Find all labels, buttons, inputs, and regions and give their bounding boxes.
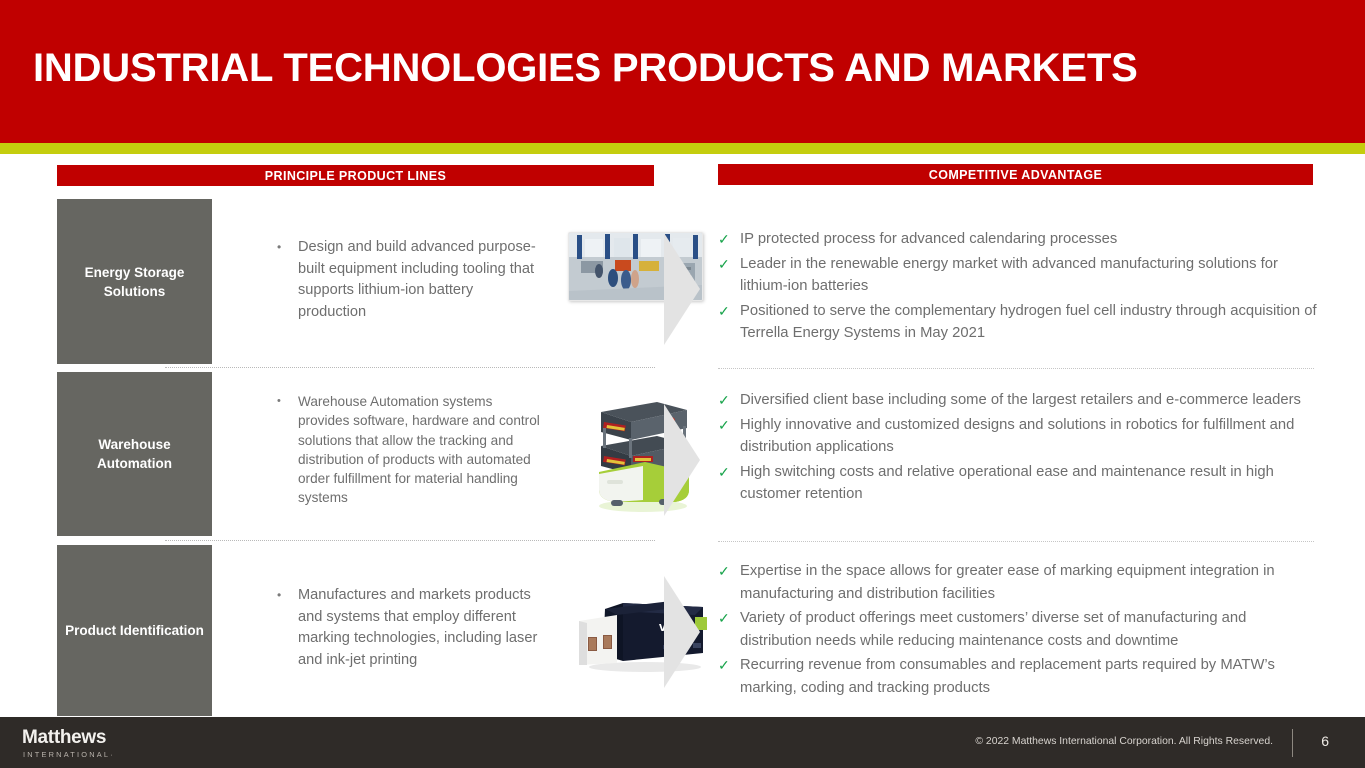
- advantage-item: ✓ Positioned to serve the complementary …: [718, 300, 1318, 345]
- product-row-product-identification: Product Identification • Manufactures an…: [57, 545, 655, 716]
- check-icon: ✓: [718, 300, 740, 345]
- advantages-group-product-identification: ✓ Expertise in the space allows for grea…: [718, 560, 1318, 701]
- advantage-item: ✓ Recurring revenue from consumables and…: [718, 654, 1318, 699]
- company-logo: Matthews: [22, 727, 106, 749]
- advantage-text: Recurring revenue from consumables and r…: [740, 654, 1318, 699]
- advantage-item: ✓ High switching costs and relative oper…: [718, 461, 1318, 506]
- row-divider-1: [165, 367, 655, 368]
- chevron-arrow-2: [662, 402, 702, 518]
- product-row-energy-storage: Energy Storage Solutions • Design and bu…: [57, 199, 655, 364]
- advantage-text: Diversified client base including some o…: [740, 389, 1301, 412]
- footer-divider: [1292, 729, 1293, 757]
- advantages-group-energy-storage: ✓ IP protected process for advanced cale…: [718, 228, 1318, 347]
- advantage-text: Leader in the renewable energy market wi…: [740, 253, 1318, 298]
- check-icon: ✓: [718, 414, 740, 459]
- copyright-text: © 2022 Matthews International Corporatio…: [975, 736, 1273, 747]
- bullet-text: Manufactures and markets products and sy…: [298, 585, 540, 671]
- page-number: 6: [1321, 733, 1329, 749]
- check-icon: ✓: [718, 228, 740, 251]
- advantage-item: ✓ Expertise in the space allows for grea…: [718, 560, 1318, 605]
- accent-bar: [0, 143, 1365, 154]
- advantage-item: ✓ Variety of product offerings meet cust…: [718, 607, 1318, 652]
- advantage-item: ✓ Diversified client base including some…: [718, 389, 1318, 412]
- slide: INDUSTRIAL TECHNOLOGIES PRODUCTS AND MAR…: [0, 0, 1365, 768]
- bullet-dot-icon: •: [272, 237, 298, 323]
- right-column-header: COMPETITIVE ADVANTAGE: [718, 164, 1313, 185]
- page-title: INDUSTRIAL TECHNOLOGIES PRODUCTS AND MAR…: [33, 44, 1138, 92]
- row-label-energy-storage: Energy Storage Solutions: [57, 199, 212, 364]
- advantage-item: ✓ Leader in the renewable energy market …: [718, 253, 1318, 298]
- advantage-text: Positioned to serve the complementary hy…: [740, 300, 1318, 345]
- advantage-item: ✓ IP protected process for advanced cale…: [718, 228, 1318, 251]
- advantage-text: Variety of product offerings meet custom…: [740, 607, 1318, 652]
- check-icon: ✓: [718, 253, 740, 298]
- advantages-divider-1: [718, 368, 1314, 369]
- bullet-item: • Design and build advanced purpose-buil…: [272, 237, 540, 323]
- bullet-text: Warehouse Automation systems provides so…: [298, 392, 540, 508]
- check-icon: ✓: [718, 389, 740, 412]
- bullet-dot-icon: •: [272, 392, 298, 508]
- advantage-text: IP protected process for advanced calend…: [740, 228, 1117, 251]
- bullet-dot-icon: •: [272, 585, 298, 671]
- advantage-item: ✓ Highly innovative and customized desig…: [718, 414, 1318, 459]
- row-divider-2: [165, 540, 655, 541]
- check-icon: ✓: [718, 560, 740, 605]
- left-column-header: PRINCIPLE PRODUCT LINES: [57, 165, 654, 186]
- row-label-warehouse-automation: Warehouse Automation: [57, 372, 212, 536]
- row-body-product-identification: • Manufactures and markets products and …: [222, 545, 712, 716]
- check-icon: ✓: [718, 461, 740, 506]
- title-band: INDUSTRIAL TECHNOLOGIES PRODUCTS AND MAR…: [0, 0, 1365, 143]
- row-label-product-identification: Product Identification: [57, 545, 212, 716]
- advantage-text: Expertise in the space allows for greate…: [740, 560, 1318, 605]
- bullet-text: Design and build advanced purpose-built …: [298, 237, 540, 323]
- advantages-divider-2: [718, 541, 1314, 542]
- chevron-arrow-1: [662, 231, 702, 347]
- advantages-group-warehouse-automation: ✓ Diversified client base including some…: [718, 389, 1318, 508]
- row-body-warehouse-automation: • Warehouse Automation systems provides …: [222, 372, 712, 536]
- advantage-text: High switching costs and relative operat…: [740, 461, 1318, 506]
- row-body-energy-storage: • Design and build advanced purpose-buil…: [222, 199, 712, 364]
- product-row-warehouse-automation: Warehouse Automation • Warehouse Automat…: [57, 372, 655, 536]
- advantage-text: Highly innovative and customized designs…: [740, 414, 1318, 459]
- check-icon: ✓: [718, 654, 740, 699]
- bullet-item: • Warehouse Automation systems provides …: [272, 392, 540, 508]
- bullet-item: • Manufactures and markets products and …: [272, 585, 540, 671]
- company-logo-subtitle: INTERNATIONAL·: [23, 750, 115, 759]
- check-icon: ✓: [718, 607, 740, 652]
- chevron-arrow-3: [662, 574, 702, 690]
